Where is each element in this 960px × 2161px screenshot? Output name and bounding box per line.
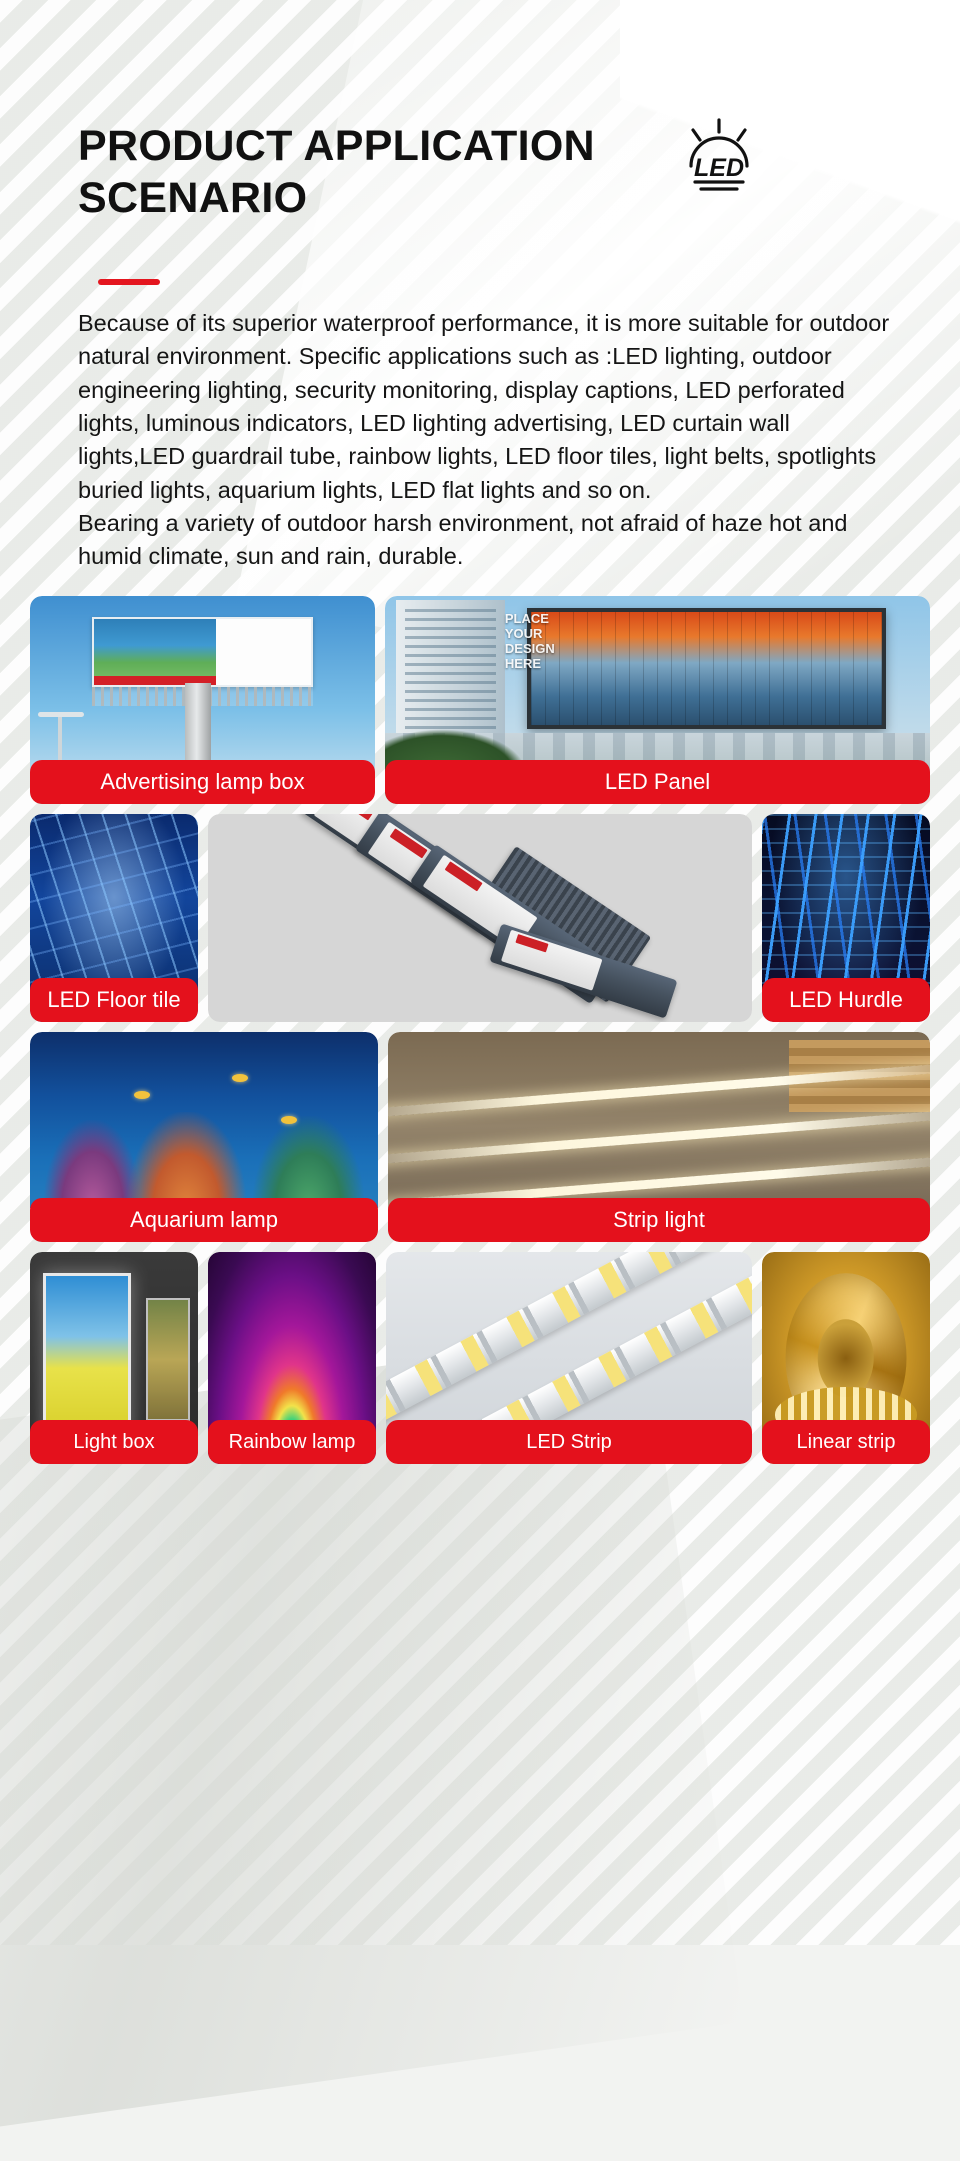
gallery-item-linear-strip[interactable]: Linear strip (762, 1252, 930, 1464)
gallery-caption: Rainbow lamp (208, 1420, 376, 1464)
gallery-item-aquarium-lamp[interactable]: Aquarium lamp (30, 1032, 378, 1242)
gallery-item-led-floor-tile[interactable]: LED Floor tile (30, 814, 198, 1022)
gallery-caption: Strip light (388, 1198, 930, 1242)
gallery-item-strip-light[interactable]: Strip light (388, 1032, 930, 1242)
screen-overlay-text: PLACE YOUR DESIGN HERE (505, 612, 555, 672)
page-header: PRODUCT APPLICATION SCENARIO LED (0, 0, 960, 285)
gallery-row: LED Floor tile LED Hurdle Lamp (30, 814, 930, 1022)
gallery-item-led-drivers[interactable] (208, 814, 752, 1022)
gallery-caption: Light box (30, 1420, 198, 1464)
application-gallery: Advertising lamp box PLACE YOUR DESIGN H… (30, 596, 930, 1464)
gallery-caption: LED Hurdle Lamp (762, 978, 930, 1022)
led-driver-power-supplies-image (208, 814, 752, 1022)
gallery-item-led-hurdle-lamp[interactable]: LED Hurdle Lamp (762, 814, 930, 1022)
gallery-row: Aquarium lamp Strip light (30, 1032, 930, 1242)
page-root: PRODUCT APPLICATION SCENARIO LED Because… (0, 0, 960, 1464)
gallery-caption: LED Floor tile (30, 978, 198, 1022)
gallery-item-light-box[interactable]: Light box (30, 1252, 198, 1464)
gallery-item-led-panel[interactable]: PLACE YOUR DESIGN HERE LED Panel (385, 596, 930, 804)
gallery-row: Advertising lamp box PLACE YOUR DESIGN H… (30, 596, 930, 804)
gallery-caption: LED Strip (386, 1420, 752, 1464)
gallery-item-rainbow-lamp[interactable]: Rainbow lamp (208, 1252, 376, 1464)
gallery-caption: Advertising lamp box (30, 760, 375, 804)
gallery-caption: Linear strip (762, 1420, 930, 1464)
description-paragraph: Because of its superior waterproof perfo… (78, 307, 896, 574)
led-bulb-rays-icon: LED (673, 118, 765, 196)
gallery-row: Light box Rainbow lamp LED Strip (30, 1252, 930, 1464)
gallery-item-led-strip[interactable]: LED Strip (386, 1252, 752, 1464)
page-title: PRODUCT APPLICATION SCENARIO (78, 120, 698, 225)
gallery-item-advertising-lamp-box[interactable]: Advertising lamp box (30, 596, 375, 804)
gallery-caption: LED Panel (385, 760, 930, 804)
svg-text:LED: LED (694, 154, 744, 182)
gallery-caption: Aquarium lamp (30, 1198, 378, 1242)
title-divider (98, 279, 160, 285)
